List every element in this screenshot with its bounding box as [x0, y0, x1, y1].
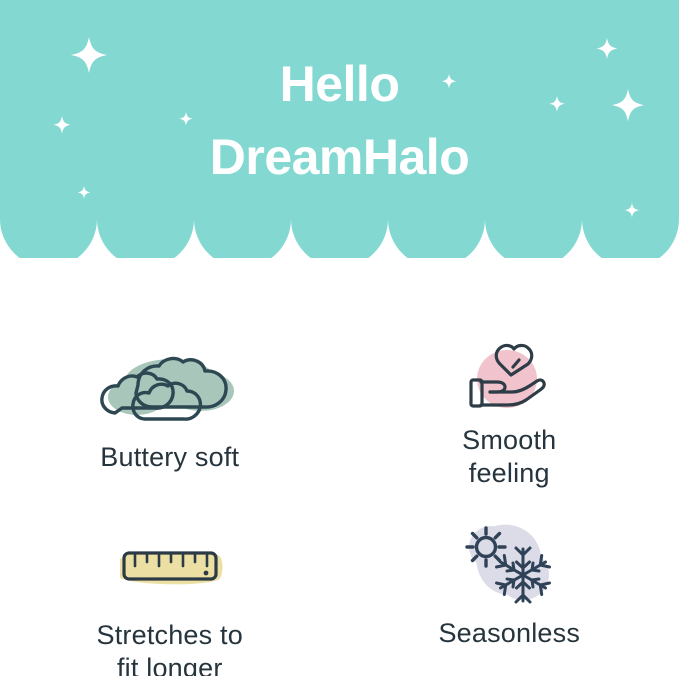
- feature-grid: Buttery soft Smooth feeling: [0, 258, 679, 676]
- feature-label-stretches: Stretches to fit longer: [97, 619, 243, 676]
- sparkle-star-icon: [549, 96, 565, 112]
- sparkle-star-icon: [625, 203, 639, 217]
- feature-item-smooth-feeling: Smooth feeling: [340, 258, 679, 491]
- sparkle-star-icon: [71, 37, 107, 73]
- cloud-icon-glyph: [96, 351, 244, 425]
- sparkle-star-icon: [78, 186, 91, 199]
- feature-item-buttery-soft: Buttery soft: [0, 258, 340, 491]
- sparkle-star-icon: [612, 89, 644, 121]
- sparkle-field: [0, 0, 679, 258]
- sparkle-star-icon: [597, 38, 618, 59]
- feature-label-buttery-soft: Buttery soft: [100, 441, 239, 474]
- feature-label-seasonless: Seasonless: [438, 617, 580, 650]
- header-banner: Hello DreamHalo: [0, 0, 679, 258]
- ruler-icon-glyph: [114, 543, 226, 589]
- feature-item-stretches: Stretches to fit longer: [0, 491, 340, 676]
- sparkle-star-icon: [53, 116, 71, 134]
- heart-in-hand-icon: [467, 342, 551, 414]
- sun-snowflake-icon: [461, 515, 557, 607]
- sparkle-star-icon: [179, 112, 192, 125]
- feature-item-seasonless: Seasonless: [340, 491, 679, 676]
- sun-snowflake-icon-glyph: [461, 517, 557, 605]
- sparkle-star-icon: [442, 74, 456, 88]
- feature-label-smooth-feeling: Smooth feeling: [462, 424, 556, 491]
- ruler-icon: [114, 523, 226, 609]
- cloud-icon: [96, 345, 244, 431]
- product-feature-infographic: Hello DreamHalo: [0, 0, 679, 676]
- heart-in-hand-icon-glyph: [467, 342, 551, 414]
